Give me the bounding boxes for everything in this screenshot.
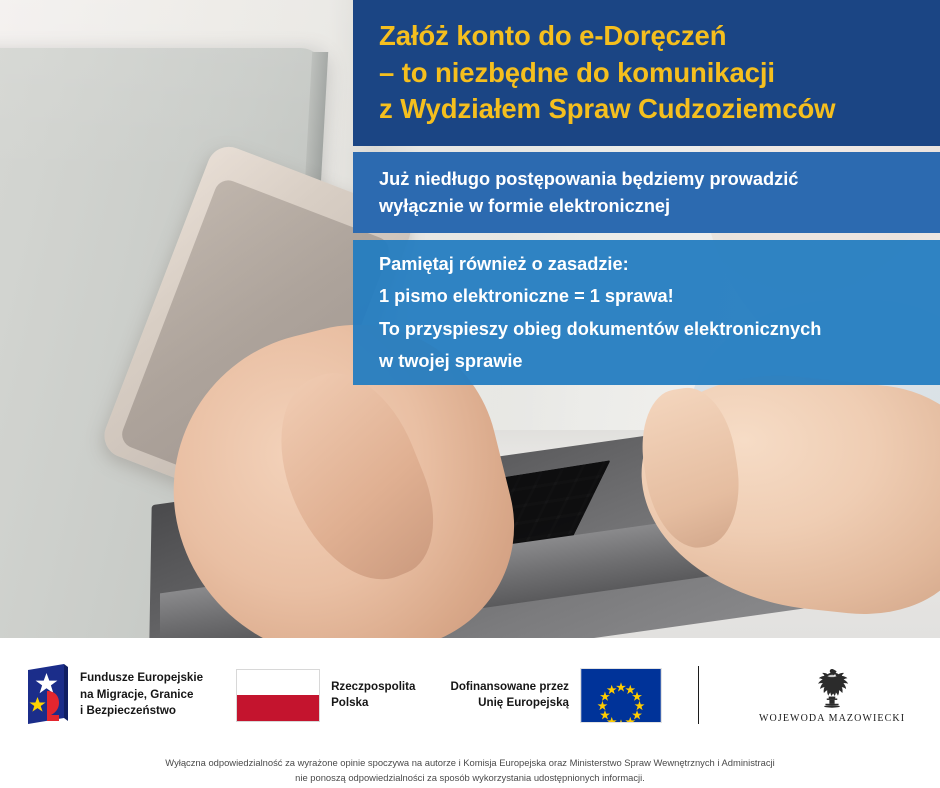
logo-rzeczpospolita-polska-label: Rzeczpospolita Polska — [331, 679, 415, 712]
disclaimer-line-1: Wyłączna odpowiedzialność za wyrażone op… — [0, 756, 940, 771]
pl-label-line-1: Rzeczpospolita — [331, 679, 415, 695]
poster: Załóż konto do e-Doręczeń – to niezbędne… — [0, 0, 940, 788]
bottom-message-block: Pamiętaj również o zasadzie: 1 pismo ele… — [353, 240, 940, 385]
logo-fundusze-europejskie-label: Fundusze Europejskie na Migracje, Granic… — [80, 670, 203, 719]
poland-flag-icon — [236, 669, 320, 722]
logo-wojewoda-mazowiecki: WOJEWODA MAZOWIECKI — [759, 667, 905, 724]
fe-label-line-3: i Bezpieczeństwo — [80, 703, 203, 719]
logo-unia-europejska-label: Dofinansowane przez Unię Europejską — [450, 679, 569, 712]
eu-funds-flag-icon — [24, 664, 70, 726]
logo-fundusze-europejskie: Fundusze Europejskie na Migracje, Granic… — [24, 664, 203, 726]
bottom-line-1: Pamiętaj również o zasadzie: — [379, 248, 914, 280]
fe-label-line-2: na Migracje, Granice — [80, 687, 203, 703]
bottom-line-2: 1 pismo elektroniczne = 1 sprawa! — [379, 280, 914, 312]
fe-label-line-1: Fundusze Europejskie — [80, 670, 203, 686]
footer-divider — [698, 666, 699, 724]
bottom-line-4: w twojej sprawie — [379, 345, 914, 377]
bottom-line-3: To przyspieszy obieg dokumentów elektron… — [379, 313, 914, 345]
eu-label-line-2: Unię Europejską — [450, 695, 569, 711]
disclaimer-line-2: nie ponoszą odpowiedzialności za sposób … — [0, 771, 940, 786]
middle-line-2: wyłącznie w formie elektronicznej — [379, 193, 914, 220]
logo-unia-europejska: Dofinansowane przez Unię Europejską — [450, 668, 662, 723]
poland-flag-red-stripe — [237, 695, 319, 721]
headline-line-1: Załóż konto do e-Doręczeń — [379, 18, 914, 55]
logo-wojewoda-mazowiecki-label: WOJEWODA MAZOWIECKI — [759, 713, 905, 724]
middle-line-1: Już niedługo postępowania będziemy prowa… — [379, 166, 914, 193]
logo-rzeczpospolita-polska: Rzeczpospolita Polska — [236, 669, 415, 722]
headline-block: Załóż konto do e-Doręczeń – to niezbędne… — [353, 0, 940, 146]
eu-label-line-1: Dofinansowane przez — [450, 679, 569, 695]
disclaimer: Wyłączna odpowiedzialność za wyrażone op… — [0, 756, 940, 785]
headline-line-2: – to niezbędne do komunikacji — [379, 55, 914, 92]
middle-message-block: Już niedługo postępowania będziemy prowa… — [353, 152, 940, 233]
polish-eagle-icon — [812, 667, 852, 709]
footer-logo-row: Fundusze Europejskie na Migracje, Granic… — [0, 656, 940, 734]
pl-label-line-2: Polska — [331, 695, 415, 711]
eu-flag-icon — [580, 668, 662, 723]
headline-line-3: z Wydziałem Spraw Cudzoziemców — [379, 91, 914, 128]
footer: Fundusze Europejskie na Migracje, Granic… — [0, 638, 940, 788]
poland-flag-white-stripe — [237, 670, 319, 696]
